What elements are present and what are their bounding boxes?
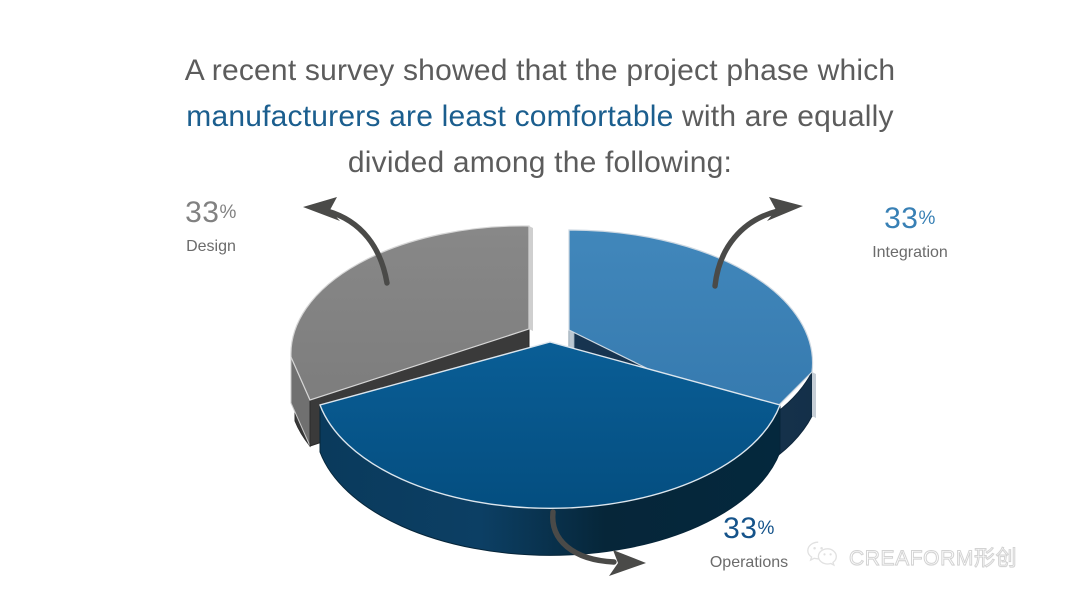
- curved-arrow-down-right-icon: [553, 512, 614, 562]
- callout-integration: 33% Integration: [840, 204, 980, 261]
- callout-operations-label: Operations: [682, 555, 816, 571]
- callout-design-label: Design: [146, 239, 276, 255]
- callout-integration-value: 33: [884, 202, 918, 235]
- curved-arrow-up-left-head-icon: [303, 197, 340, 221]
- watermark-text: CREAFORM形创: [849, 542, 1017, 572]
- curved-arrow-up-right-head-icon: [767, 197, 803, 221]
- curved-arrow-up-left-icon: [327, 211, 387, 283]
- wechat-icon: [806, 540, 840, 573]
- pie-slice-integration-right-edge: [812, 372, 816, 418]
- pie-slice-integration: [569, 230, 816, 468]
- callout-operations: 33% Operations: [682, 514, 816, 571]
- percent-sign: %: [757, 518, 774, 539]
- pie-slice-design-left-wall: [291, 357, 310, 446]
- percent-sign: %: [918, 208, 935, 229]
- curved-arrow-up-right-icon: [715, 211, 778, 286]
- curved-arrow-down-right-head-icon: [609, 550, 646, 576]
- pie-slice-design-top: [291, 226, 529, 400]
- callout-operations-percent: 33%: [682, 514, 816, 544]
- headline-line-2: manufacturers are least comfortable with…: [120, 94, 960, 140]
- callout-integration-percent: 33%: [840, 204, 980, 234]
- headline-line-2-tail: with are equally: [674, 100, 894, 133]
- pie-slice-integration-left-edge: [569, 230, 574, 375]
- pie-slice-integration-top: [569, 230, 813, 424]
- callout-design-percent: 33%: [146, 198, 276, 228]
- pie-slice-integration-radial-wall: [569, 330, 760, 468]
- pie-slice-design-right-edge: [529, 226, 533, 331]
- watermark: CREAFORM形创: [806, 540, 1017, 573]
- percent-sign: %: [219, 202, 236, 223]
- callout-design-value: 33: [185, 196, 219, 229]
- headline-accent-phrase: manufacturers are least comfortable: [186, 100, 673, 133]
- callout-integration-label: Integration: [840, 245, 980, 261]
- headline-line-3: divided among the following:: [120, 140, 960, 186]
- pie-slice-design-side: [295, 375, 310, 446]
- callout-operations-value: 33: [723, 512, 757, 545]
- callout-design: 33% Design: [146, 198, 276, 255]
- headline-line-1: A recent survey showed that the project …: [120, 48, 960, 94]
- pie-slice-operations-top: [320, 342, 780, 508]
- page-title: A recent survey showed that the project …: [120, 48, 960, 186]
- pie-slice-design: [291, 226, 533, 446]
- pie-slice-integration-side: [760, 372, 812, 468]
- pie-slice-design-radial-wall: [310, 329, 529, 446]
